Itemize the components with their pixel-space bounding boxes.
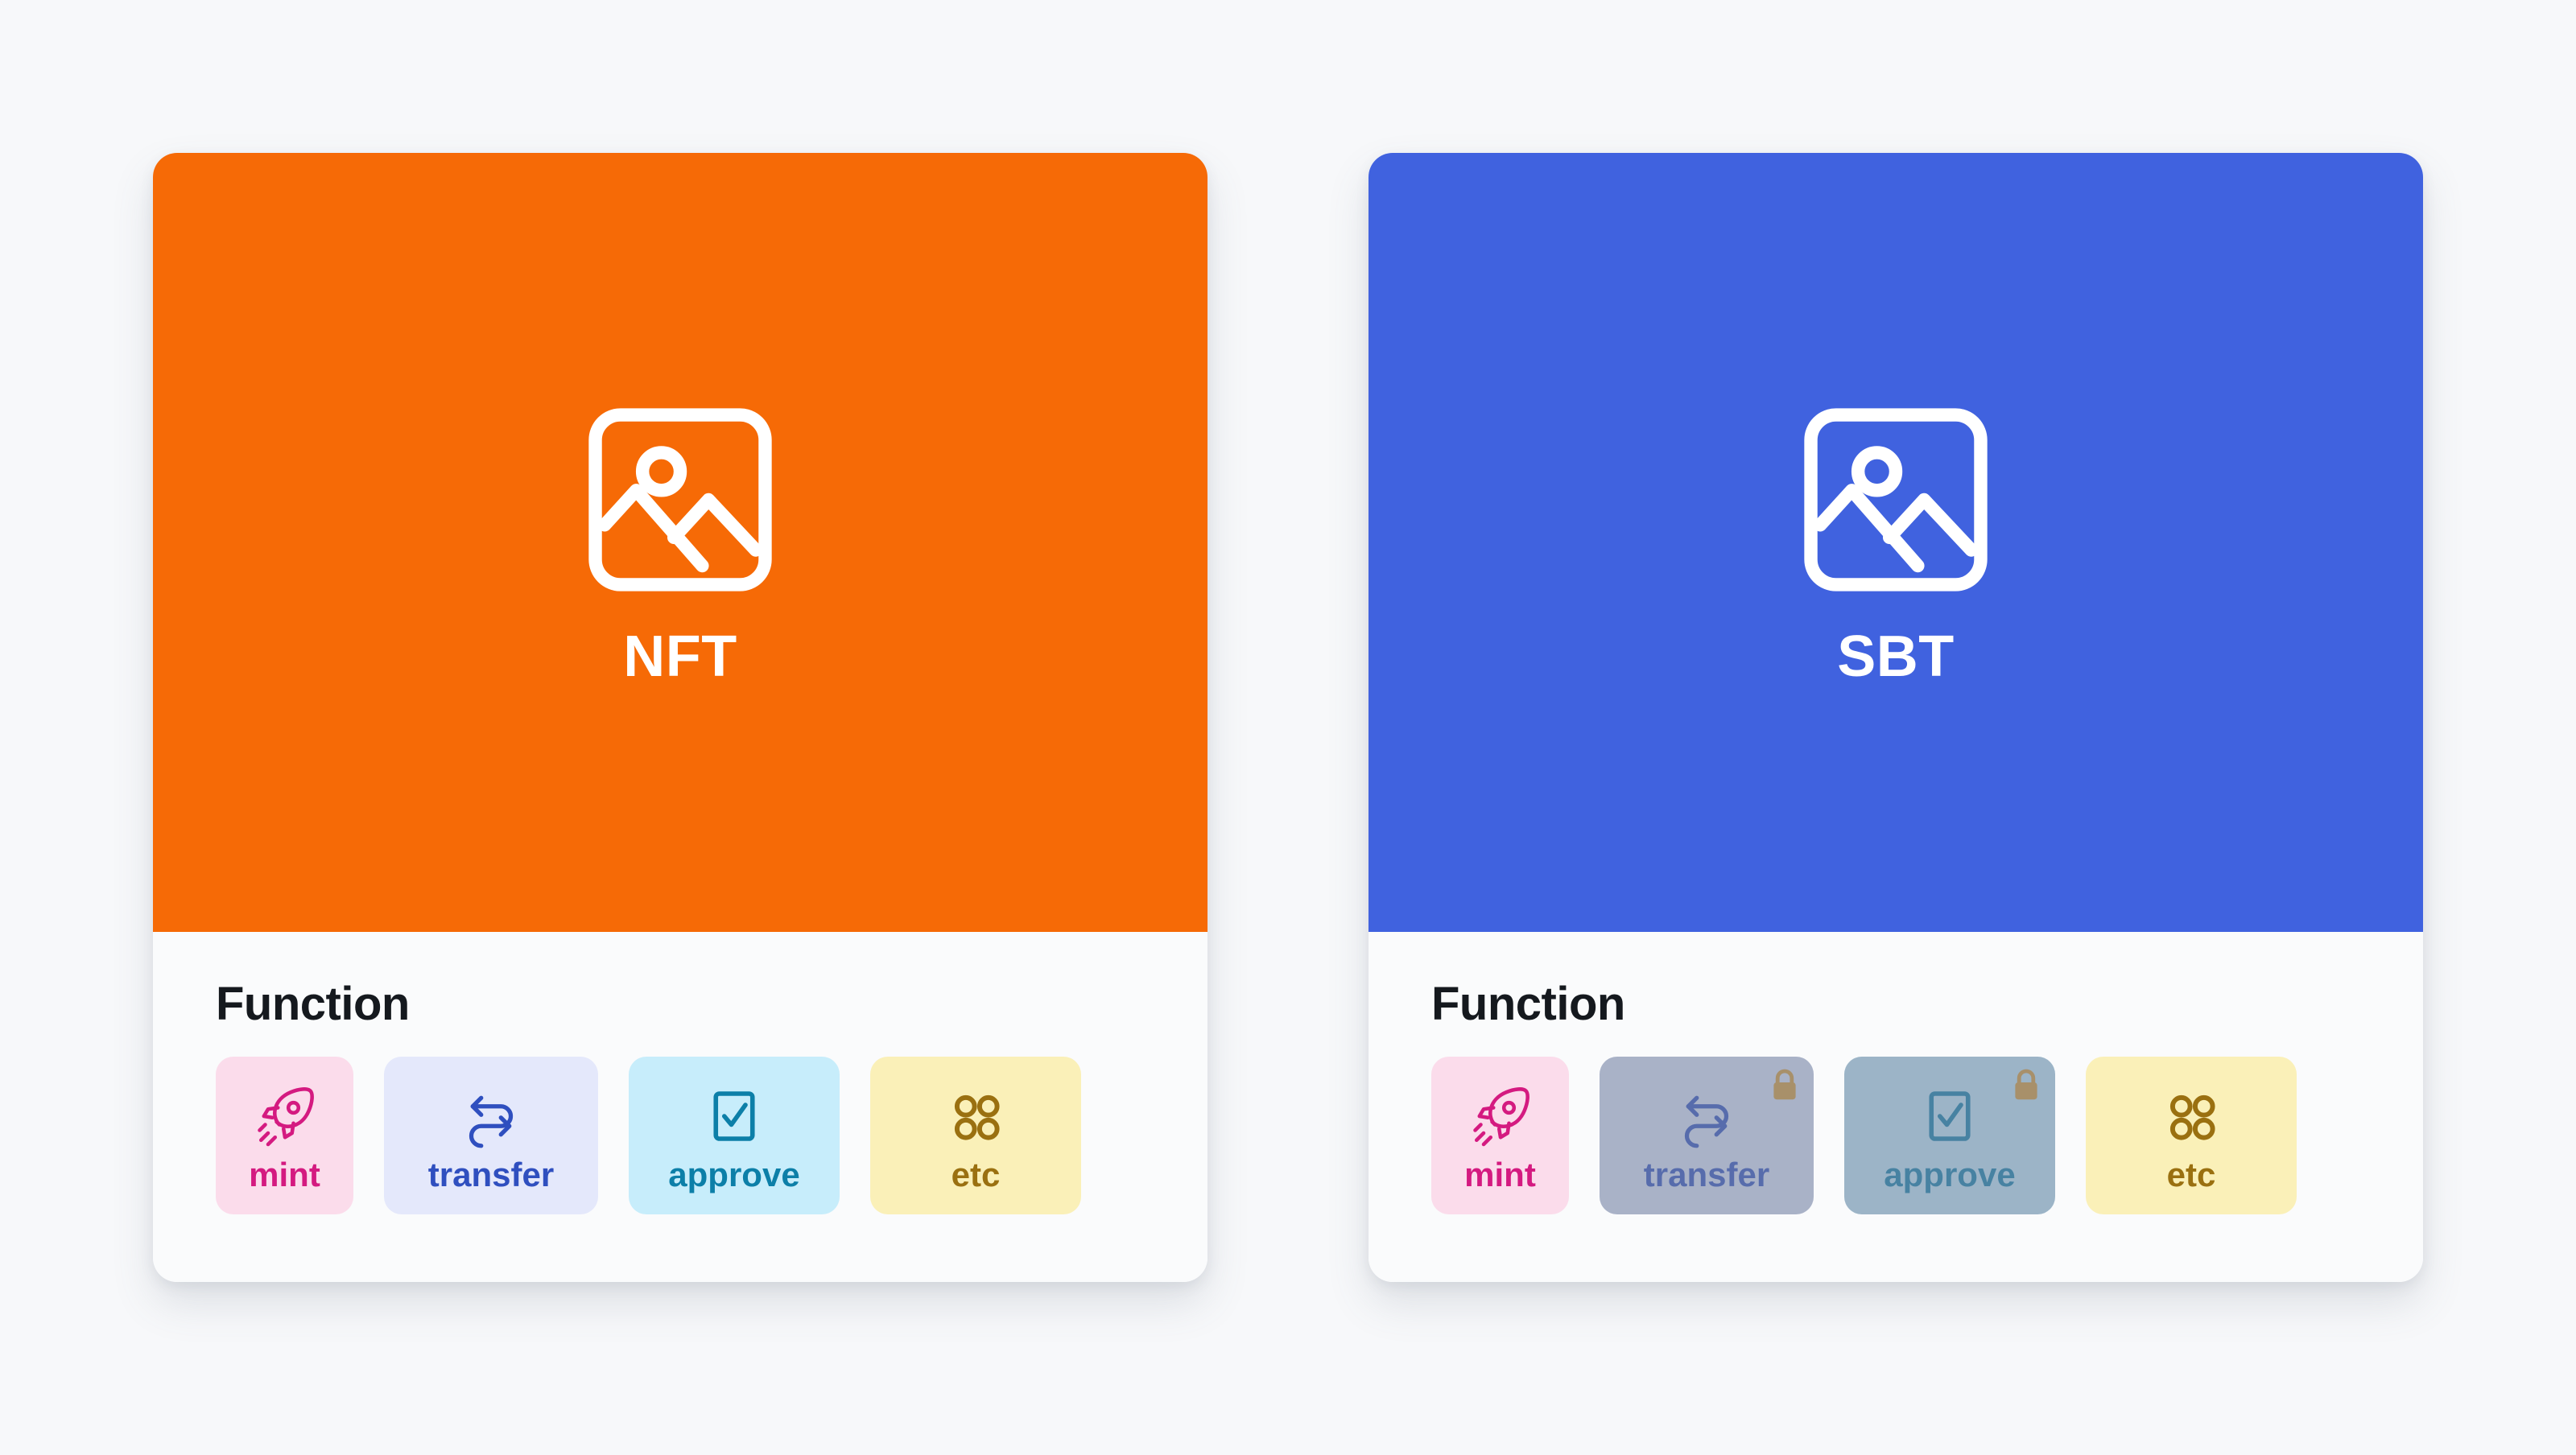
loop-arrows-icon [1673,1082,1740,1150]
nft-function-mint-label: mint [249,1158,320,1192]
checkbox-check-icon [700,1082,768,1150]
nft-function-transfer-button[interactable]: transfer [384,1057,598,1214]
sbt-card-body: Function mint [1368,932,2423,1282]
lock-icon [1769,1068,1801,1103]
sbt-card-header: SBT [1368,153,2423,932]
sbt-card: SBT Function [1368,153,2423,1282]
sbt-function-heading: Function [1431,980,2423,1029]
cards-container: NFT Function [0,0,2576,1455]
image-icon [1795,399,1996,600]
rocket-icon [251,1082,319,1150]
image-icon [580,399,781,600]
four-circles-icon [2157,1082,2225,1150]
nft-card-header: NFT [153,153,1207,932]
nft-function-list: mint transfer [153,1057,1207,1214]
sbt-function-mint-label: mint [1464,1158,1536,1192]
sbt-function-approve-button: approve [1844,1057,2055,1214]
sbt-function-etc-label: etc [2167,1158,2216,1192]
nft-function-approve-button[interactable]: approve [629,1057,840,1214]
loop-arrows-icon [457,1082,525,1150]
nft-card-body: Function mint [153,932,1207,1282]
sbt-function-transfer-button: transfer [1600,1057,1814,1214]
nft-card-title: NFT [623,628,737,686]
four-circles-icon [942,1082,1009,1150]
sbt-function-transfer-label: transfer [1644,1158,1769,1192]
rocket-icon [1467,1082,1534,1150]
nft-function-etc-button[interactable]: etc [870,1057,1081,1214]
sbt-function-approve-label: approve [1884,1158,2015,1192]
sbt-function-mint-button[interactable]: mint [1431,1057,1569,1214]
nft-function-heading: Function [216,980,1207,1029]
lock-icon [2010,1068,2042,1103]
nft-function-transfer-label: transfer [428,1158,554,1192]
nft-function-approve-label: approve [668,1158,799,1192]
sbt-function-list: mint transfer [1368,1057,2423,1214]
sbt-card-title: SBT [1837,628,1955,686]
nft-function-mint-button[interactable]: mint [216,1057,353,1214]
checkbox-check-icon [1916,1082,1984,1150]
nft-function-etc-label: etc [952,1158,1001,1192]
sbt-function-etc-button[interactable]: etc [2086,1057,2297,1214]
nft-card: NFT Function [153,153,1207,1282]
